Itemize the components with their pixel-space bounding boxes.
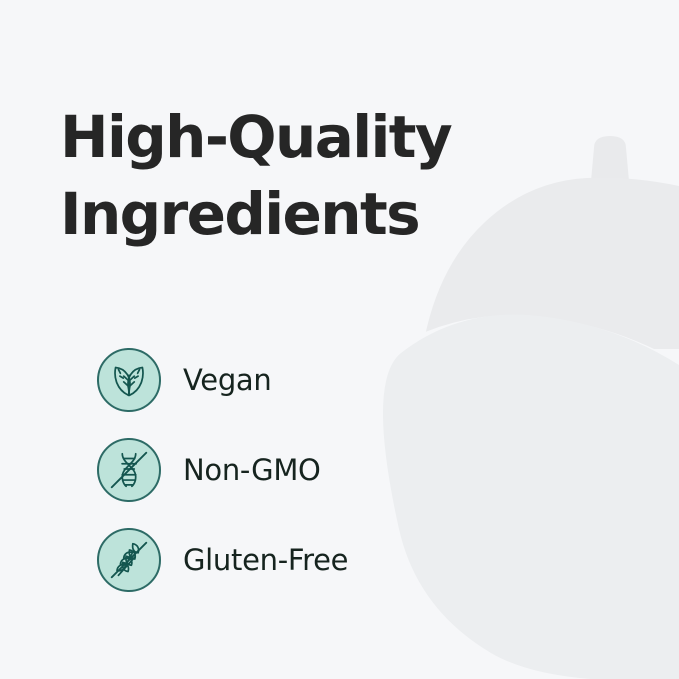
jar-knob-shape [590,136,630,195]
two-leaves-icon [97,348,161,412]
list-item: Gluten-Free [97,515,517,605]
dna-strike-through-icon [97,438,161,502]
list-item-label: Gluten-Free [183,543,348,577]
page-title: High-Quality Ingredients [60,99,480,252]
list-item-label: Non-GMO [183,453,321,487]
list-item-label: Vegan [183,363,272,397]
promo-graphic: High-Quality Ingredients Vegan [0,0,679,679]
list-item: Non-GMO [97,425,517,515]
wheat-strike-through-icon [97,528,161,592]
list-item: Vegan [97,335,517,425]
feature-list: Vegan Non-GMO [97,335,517,605]
